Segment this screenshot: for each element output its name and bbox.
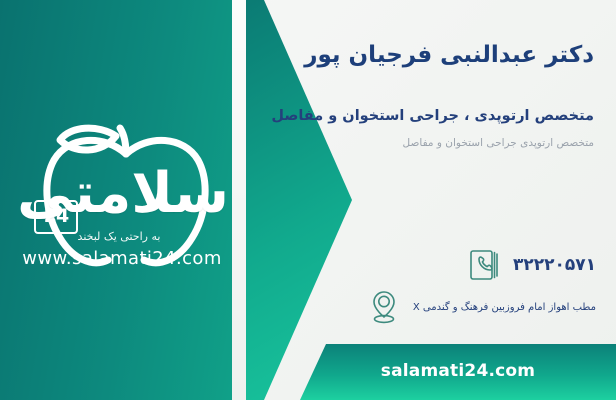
doctor-specialty-primary: متخصص ارتوپدی ، جراحی استخوان و مفاصل [271, 108, 594, 124]
contact-phone-number: ۳۲۲۲۰۵۷۱ [513, 255, 596, 275]
contact-row-phone[interactable]: ۳۲۲۲۰۵۷۱ [467, 246, 596, 284]
doctor-profile-card: سلامتی 24 به راحتی یک لبخند www.salamati… [0, 0, 616, 400]
brand-tagline: به راحتی یک لبخند [8, 230, 230, 243]
phonebook-icon [467, 246, 501, 284]
location-pin-icon [367, 288, 401, 326]
brand-logo-badge: 24 [34, 200, 78, 234]
contact-address-text: مطب اهواز امام فروزبین فرهنگ و گندمی X [413, 302, 596, 313]
doctor-name: دکتر عبدالنبی فرجیان پور [304, 42, 594, 68]
doctor-specialty-secondary: متخصص ارتوپدی جراحی استخوان و مفاصل [403, 137, 594, 149]
contact-row-address[interactable]: مطب اهواز امام فروزبین فرهنگ و گندمی X [367, 288, 596, 326]
brand-logo: سلامتی 24 به راحتی یک لبخند www.salamati… [8, 108, 238, 288]
footer-bar: salamati24.com [300, 344, 616, 400]
brand-url: www.salamati24.com [8, 248, 236, 269]
footer-website[interactable]: salamati24.com [300, 361, 616, 381]
